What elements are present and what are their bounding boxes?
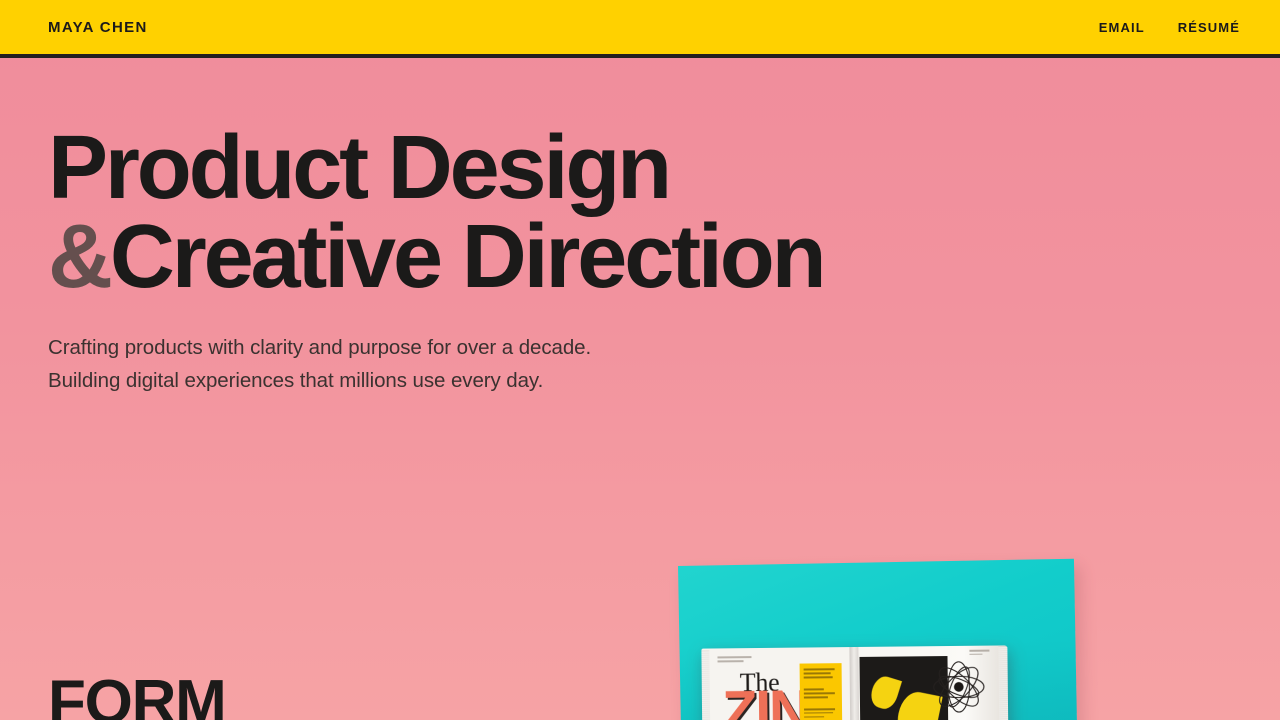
hero-subtitle: Crafting products with clarity and purpo… (48, 332, 1232, 397)
text-line (804, 708, 835, 710)
site-header: MAYA CHEN EMAIL RÉSUMÉ (0, 0, 1280, 58)
page-title: Product Design &Creative Direction (48, 124, 1232, 302)
text-line (804, 712, 833, 714)
text-line (804, 668, 835, 670)
magazine-left-page: The ZIN (701, 647, 854, 720)
magazine-page-edge-right (998, 646, 1008, 720)
headline-line-1: Product Design (48, 124, 1232, 213)
spacer (804, 680, 838, 688)
text-line (717, 656, 751, 658)
text-line (969, 653, 982, 655)
text-line (804, 696, 828, 698)
primary-nav: EMAIL RÉSUMÉ (1099, 20, 1240, 35)
magazine-title-display: ZIN (722, 687, 809, 720)
brand-logo[interactable]: MAYA CHEN (48, 19, 148, 36)
hero-photo: The ZIN (660, 552, 1100, 720)
text-line (804, 692, 835, 694)
nav-link-email[interactable]: EMAIL (1099, 20, 1145, 35)
magazine-spine (849, 647, 859, 720)
text-line (969, 650, 989, 652)
text-line (804, 676, 833, 678)
magazine-yellow-callout (800, 663, 843, 720)
nav-link-resume[interactable]: RÉSUMÉ (1178, 20, 1240, 35)
droplet-icon (868, 674, 902, 712)
subtitle-line-1: Crafting products with clarity and purpo… (48, 336, 591, 359)
headline-line-2-text: Creative Direction (110, 207, 824, 307)
magazine-masthead-lines (717, 656, 765, 665)
magazine-right-page (853, 645, 1008, 720)
text-line (804, 672, 831, 674)
open-magazine: The ZIN (701, 645, 1008, 720)
magazine-page-edge-left (701, 651, 710, 720)
text-line (804, 688, 824, 690)
subtitle-line-2: Building digital experiences that millio… (48, 369, 543, 392)
portfolio-landing-page: MAYA CHEN EMAIL RÉSUMÉ Product Design &C… (0, 0, 1280, 720)
section-heading-form: FORM (48, 672, 226, 720)
text-line (718, 660, 744, 662)
headline-line-2: &Creative Direction (48, 213, 1232, 302)
text-line (804, 716, 824, 718)
headline-ampersand: & (48, 207, 110, 307)
atom-diagram-icon (930, 658, 989, 717)
hero-section: Product Design &Creative Direction Craft… (0, 62, 1280, 397)
magazine-folio (969, 650, 991, 657)
